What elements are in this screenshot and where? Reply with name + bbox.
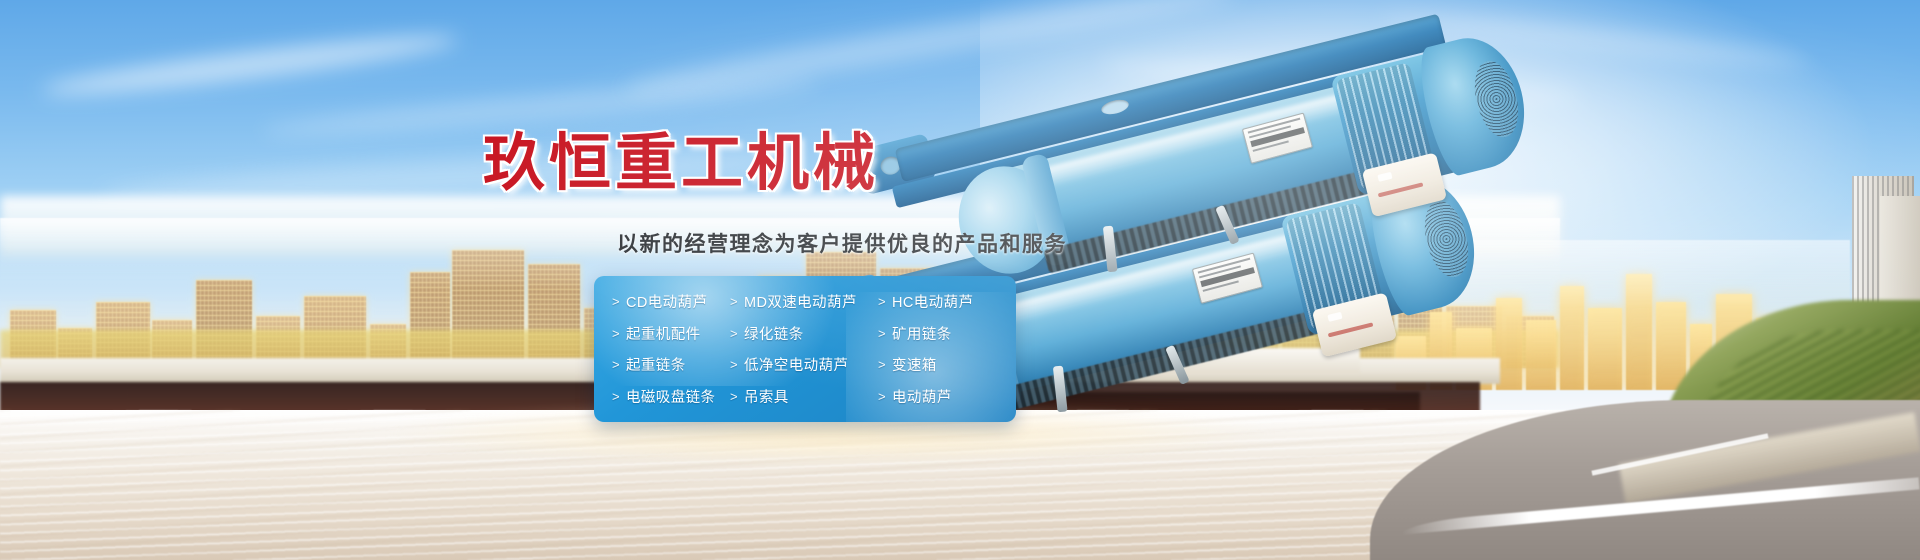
product-link-label: 矿用链条 [892, 323, 952, 344]
product-link-md-dual-speed-hoist[interactable]: >MD双速电动葫芦 [730, 286, 878, 318]
chevron-right-icon: > [878, 294, 886, 309]
chevron-right-icon: > [612, 389, 620, 404]
product-link-label: 起重机配件 [626, 323, 701, 344]
chevron-right-icon: > [878, 389, 886, 404]
product-link-lifting-sling[interactable]: >吊索具 [730, 381, 878, 413]
chevron-right-icon: > [612, 357, 620, 372]
product-link-label: MD双速电动葫芦 [744, 291, 857, 312]
product-link-lifting-chain[interactable]: >起重链条 [612, 349, 730, 381]
product-link-label: CD电动葫芦 [626, 291, 707, 312]
chevron-right-icon: > [612, 294, 620, 309]
product-link-label: 低净空电动葫芦 [744, 354, 848, 375]
product-link-label: 电动葫芦 [892, 386, 952, 407]
product-link-hc-hoist[interactable]: >HC电动葫芦 [878, 286, 1016, 318]
product-link-greening-chain[interactable]: >绿化链条 [730, 318, 878, 350]
product-link-label: 绿化链条 [744, 323, 804, 344]
product-link-electric-hoist[interactable]: >电动葫芦 [878, 381, 1016, 413]
product-link-magnetic-chuck-chain[interactable]: >电磁吸盘链条 [612, 381, 730, 413]
cloud-wisp [40, 27, 460, 104]
product-link-label: 变速箱 [892, 354, 937, 375]
product-link-label: 起重链条 [626, 354, 686, 375]
hero-banner: 玖恒重工机械 以新的经营理念为客户提供优良的产品和服务 >CD电动葫芦 >MD双… [0, 0, 1920, 560]
chevron-right-icon: > [730, 294, 738, 309]
chevron-right-icon: > [730, 326, 738, 341]
product-link-crane-parts[interactable]: >起重机配件 [612, 318, 730, 350]
product-link-label: 电磁吸盘链条 [626, 386, 715, 407]
product-links-grid: >CD电动葫芦 >MD双速电动葫芦 >HC电动葫芦 >起重机配件 >绿化链条 >… [594, 276, 1016, 422]
chevron-right-icon: > [730, 357, 738, 372]
product-link-label: 吊索具 [744, 386, 789, 407]
product-link-cd-hoist[interactable]: >CD电动葫芦 [612, 286, 730, 318]
chevron-right-icon: > [878, 357, 886, 372]
product-link-label: HC电动葫芦 [892, 291, 973, 312]
chevron-right-icon: > [612, 326, 620, 341]
product-links-panel: >CD电动葫芦 >MD双速电动葫芦 >HC电动葫芦 >起重机配件 >绿化链条 >… [594, 276, 1016, 422]
product-link-gearbox[interactable]: >变速箱 [878, 349, 1016, 381]
product-link-low-headroom-hoist[interactable]: >低净空电动葫芦 [730, 349, 878, 381]
chevron-right-icon: > [878, 326, 886, 341]
chevron-right-icon: > [730, 389, 738, 404]
banner-title: 玖恒重工机械 [483, 112, 879, 202]
banner-subtitle: 以新的经营理念为客户提供优良的产品和服务 [617, 228, 1067, 258]
product-link-mining-chain[interactable]: >矿用链条 [878, 318, 1016, 350]
